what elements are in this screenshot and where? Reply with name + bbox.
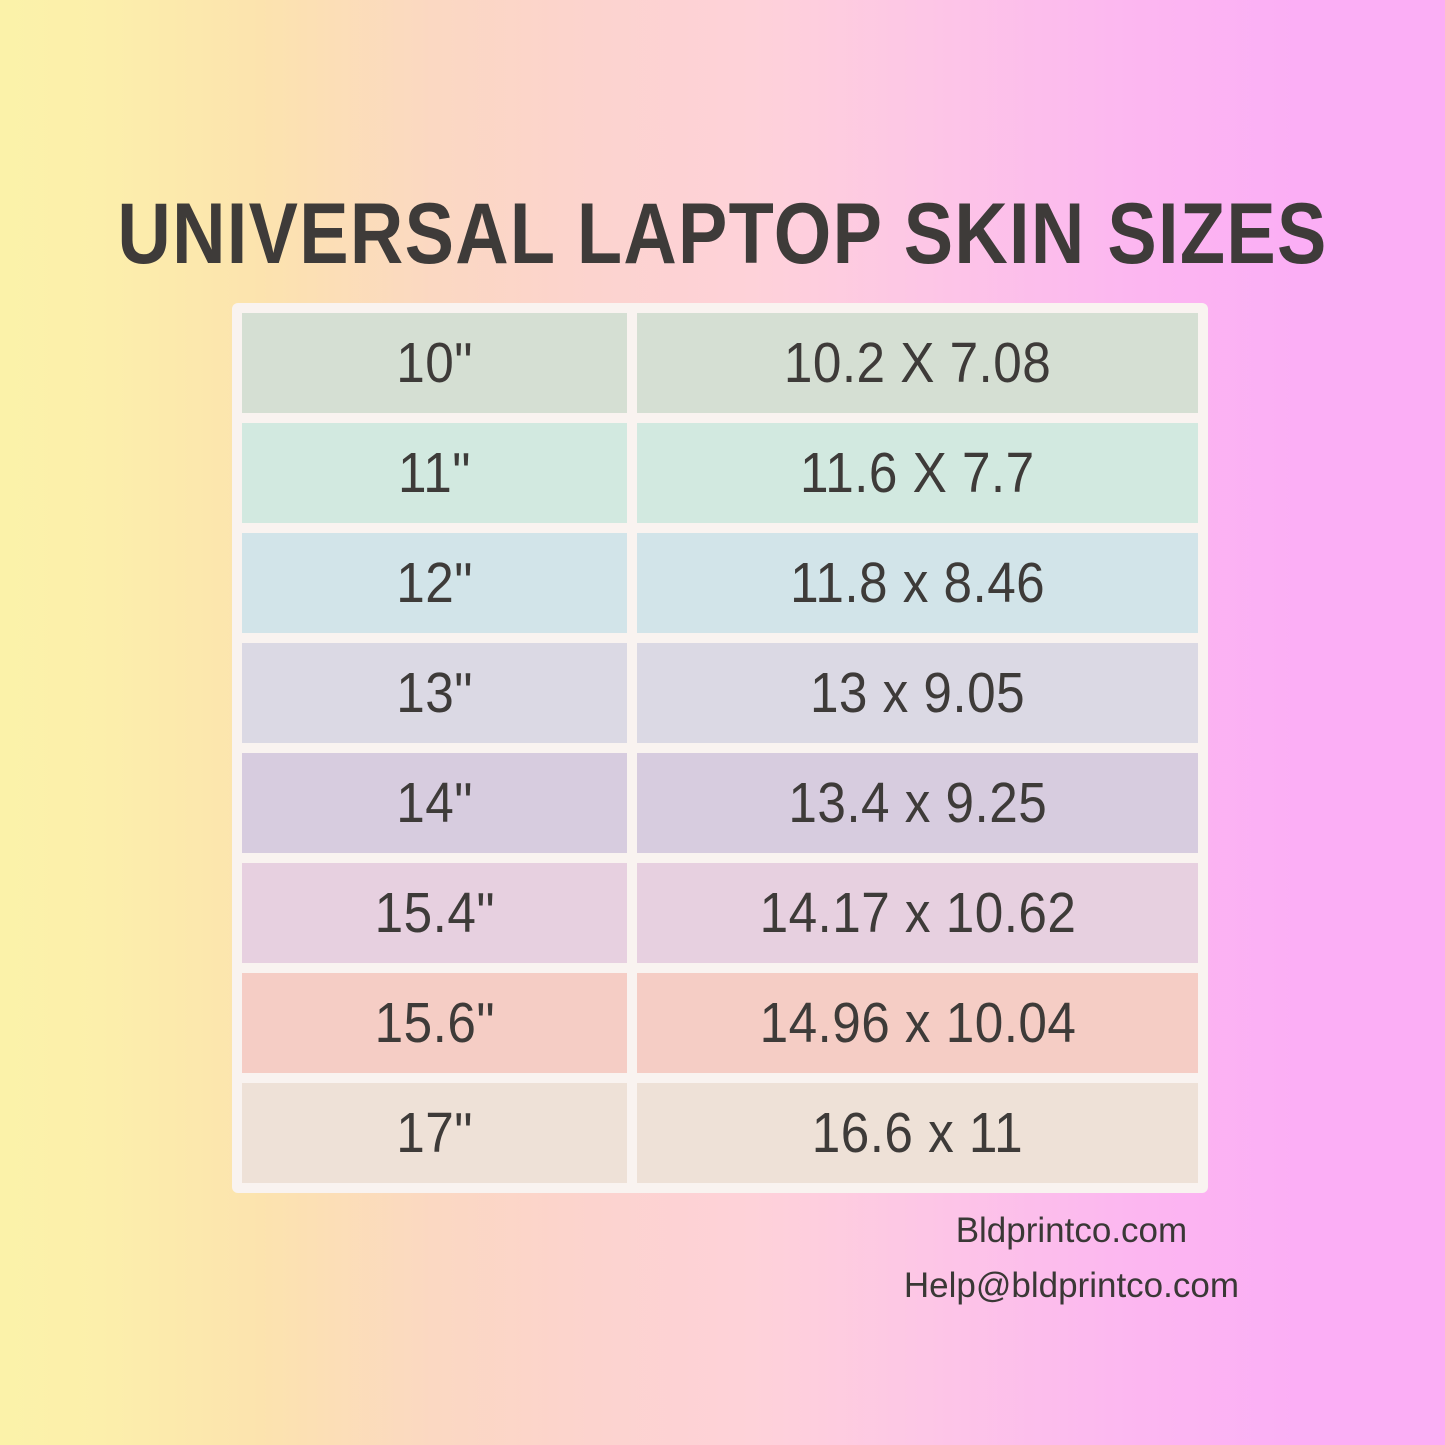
footer-website[interactable]: Bldprintco.com [904,1203,1239,1258]
cell-screen-size: 13" [242,643,627,743]
cell-skin-dimension: 16.6 x 11 [637,1083,1198,1183]
table-row: 15.6" 14.96 x 10.04 [242,973,1198,1073]
laptop-size-table: 10" 10.2 X 7.08 11" 11.6 X 7.7 12" 11.8 … [232,303,1208,1193]
footer-contact: Bldprintco.com Help@bldprintco.com [904,1203,1239,1313]
cell-skin-dimension: 11.8 x 8.46 [637,533,1198,633]
screen-size-label: 11" [398,445,471,502]
screen-size-label: 15.6" [374,995,494,1052]
cell-screen-size: 14" [242,753,627,853]
cell-screen-size: 15.4" [242,863,627,963]
screen-size-label: 10" [396,335,473,392]
table-row: 12" 11.8 x 8.46 [242,533,1198,633]
screen-size-label: 13" [396,665,473,722]
table-row: 11" 11.6 X 7.7 [242,423,1198,523]
screen-size-label: 14" [396,775,473,832]
skin-dimension-label: 11.8 x 8.46 [790,555,1045,612]
skin-dimension-label: 10.2 X 7.08 [784,335,1051,392]
table-row: 17" 16.6 x 11 [242,1083,1198,1183]
table-row: 10" 10.2 X 7.08 [242,313,1198,413]
table-row: 14" 13.4 x 9.25 [242,753,1198,853]
cell-screen-size: 10" [242,313,627,413]
cell-screen-size: 17" [242,1083,627,1183]
cell-skin-dimension: 11.6 X 7.7 [637,423,1198,523]
skin-dimension-label: 13 x 9.05 [810,665,1025,722]
screen-size-label: 17" [396,1105,473,1162]
skin-dimension-label: 13.4 x 9.25 [788,775,1047,832]
skin-dimension-label: 11.6 X 7.7 [800,445,1035,502]
screen-size-label: 12" [396,555,473,612]
table-row: 13" 13 x 9.05 [242,643,1198,743]
cell-skin-dimension: 14.17 x 10.62 [637,863,1198,963]
footer-email[interactable]: Help@bldprintco.com [904,1258,1239,1313]
cell-screen-size: 12" [242,533,627,633]
skin-dimension-label: 14.17 x 10.62 [759,885,1076,942]
screen-size-label: 15.4" [374,885,494,942]
cell-skin-dimension: 10.2 X 7.08 [637,313,1198,413]
poster-canvas: UNIVERSAL LAPTOP SKIN SIZES 10" 10.2 X 7… [0,0,1445,1445]
cell-skin-dimension: 13.4 x 9.25 [637,753,1198,853]
skin-dimension-label: 16.6 x 11 [812,1105,1023,1162]
cell-skin-dimension: 13 x 9.05 [637,643,1198,743]
skin-dimension-label: 14.96 x 10.04 [759,995,1076,1052]
cell-screen-size: 15.6" [242,973,627,1073]
page-title: UNIVERSAL LAPTOP SKIN SIZES [101,186,1344,282]
cell-skin-dimension: 14.96 x 10.04 [637,973,1198,1073]
cell-screen-size: 11" [242,423,627,523]
table-row: 15.4" 14.17 x 10.62 [242,863,1198,963]
